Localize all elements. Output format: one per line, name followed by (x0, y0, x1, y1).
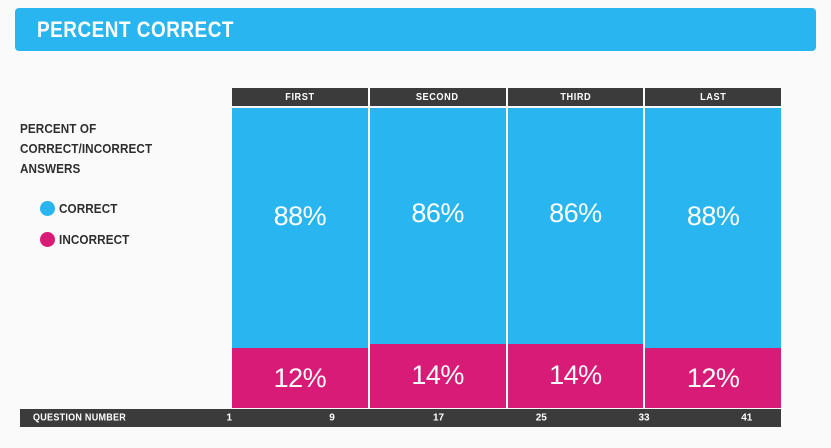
legend-caption-line-2: CORRECT/INCORRECT (20, 139, 200, 159)
column-header-label: FIRST (285, 92, 314, 103)
bar-segment-correct-label: 86% (549, 198, 602, 229)
column-header-label: SECOND (416, 92, 459, 103)
bar-segment-correct-label: 88% (687, 201, 740, 232)
panel-title-bar: PERCENT CORRECT (15, 8, 816, 51)
circle-marker-icon (40, 201, 55, 216)
column-header-row: FIRST SECOND THIRD LAST (232, 88, 781, 106)
bar-segment-incorrect[interactable]: 12% (232, 348, 368, 408)
bar-column-first[interactable]: 88% 12% (232, 108, 370, 408)
legend-item-incorrect[interactable]: INCORRECT (40, 224, 220, 255)
percent-correct-chart-panel: PERCENT CORRECT PERCENT OF CORRECT/INCOR… (0, 0, 831, 448)
legend-items: CORRECT INCORRECT (20, 193, 220, 255)
bar-column-last[interactable]: 88% 12% (645, 108, 781, 408)
bar-column-second[interactable]: 86% 14% (370, 108, 508, 408)
x-axis-tick: 1 (226, 413, 232, 424)
legend-caption: PERCENT OF CORRECT/INCORRECT ANSWERS (20, 119, 200, 179)
legend-item-label: CORRECT (59, 201, 117, 216)
bar-segment-correct-label: 86% (411, 198, 464, 229)
column-header-label: LAST (700, 92, 726, 103)
bar-columns: 88% 12% 86% 14% 86% 14% (232, 108, 781, 408)
x-axis-tick: 25 (536, 413, 547, 424)
bar-segment-correct[interactable]: 86% (370, 108, 506, 344)
bar-segment-incorrect-label: 12% (687, 363, 740, 394)
legend-block: PERCENT OF CORRECT/INCORRECT ANSWERS COR… (20, 119, 220, 255)
x-axis-tick: 9 (329, 413, 335, 424)
x-axis-title: QUESTION NUMBER (33, 413, 126, 424)
circle-marker-icon (40, 232, 55, 247)
legend-caption-line-3: ANSWERS (20, 159, 200, 179)
column-header-last: LAST (645, 88, 781, 106)
bar-segment-correct-label: 88% (274, 201, 327, 232)
bar-segment-incorrect[interactable]: 14% (370, 344, 506, 408)
bar-segment-incorrect[interactable]: 12% (645, 348, 781, 408)
column-header-second: SECOND (370, 88, 508, 106)
bar-segment-incorrect-label: 14% (411, 360, 464, 391)
legend-item-correct[interactable]: CORRECT (40, 193, 220, 224)
stacked-bar-chart: FIRST SECOND THIRD LAST 88% 12% 86% 14% (232, 88, 781, 406)
x-axis-bar: QUESTION NUMBER 1 9 17 25 33 41 (20, 409, 781, 427)
x-axis-tick: 17 (433, 413, 444, 424)
column-header-first: FIRST (232, 88, 370, 106)
bar-segment-correct[interactable]: 88% (232, 108, 368, 348)
bar-segment-incorrect-label: 12% (274, 363, 327, 394)
x-axis-tick: 33 (638, 413, 649, 424)
bar-segment-incorrect[interactable]: 14% (508, 344, 644, 408)
column-header-label: THIRD (560, 92, 591, 103)
column-header-third: THIRD (508, 88, 646, 106)
x-axis-tick: 41 (741, 413, 752, 424)
bar-segment-incorrect-label: 14% (549, 360, 602, 391)
bar-segment-correct[interactable]: 86% (508, 108, 644, 344)
legend-caption-line-1: PERCENT OF (20, 119, 200, 139)
legend-item-label: INCORRECT (59, 232, 129, 247)
page-title: PERCENT CORRECT (37, 17, 234, 43)
bar-segment-correct[interactable]: 88% (645, 108, 781, 348)
bar-column-third[interactable]: 86% 14% (508, 108, 646, 408)
